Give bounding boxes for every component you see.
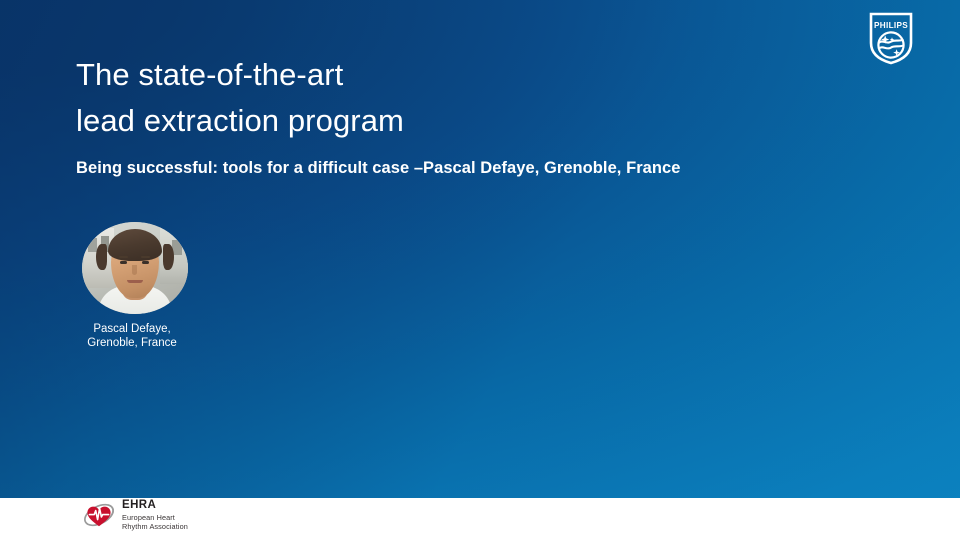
philips-wordmark: PHILIPS	[874, 21, 908, 30]
photo-hair-right	[163, 244, 174, 270]
ehra-subtitle-line-1: European Heart	[122, 514, 188, 521]
title-line-2: lead extraction program	[76, 98, 716, 144]
ehra-subtitle-line-2: Rhythm Association	[122, 523, 188, 530]
photo-eye-right	[142, 261, 149, 264]
photo-eye-left	[120, 261, 127, 264]
photo-mouth	[127, 280, 143, 283]
ehra-heart-icon	[82, 501, 116, 529]
speaker-caption: Pascal Defaye, Grenoble, France	[79, 322, 185, 350]
philips-shield-icon: PHILIPS	[868, 11, 914, 65]
photo-hair-left	[96, 244, 107, 270]
photo-nose	[132, 265, 137, 275]
slide-subtitle: Being successful: tools for a difficult …	[76, 159, 680, 178]
philips-emblem-icon	[878, 32, 903, 57]
title-line-1: The state-of-the-art	[76, 52, 716, 98]
avatar	[82, 222, 188, 314]
ehra-logo: EHRA European Heart Rhythm Association	[82, 500, 188, 530]
photo-eyebrow-right	[141, 256, 150, 258]
speaker-caption-line-2: Grenoble, France	[79, 336, 185, 350]
speaker-caption-line-1: Pascal Defaye,	[79, 322, 185, 336]
ehra-text-block: EHRA European Heart Rhythm Association	[122, 500, 188, 530]
photo-eyebrow-left	[119, 256, 128, 258]
page-title: The state-of-the-art lead extraction pro…	[76, 52, 716, 144]
photo-window-left-1	[88, 238, 97, 252]
philips-logo: PHILIPS	[868, 11, 914, 65]
ehra-acronym: EHRA	[122, 500, 188, 512]
speaker-block: Pascal Defaye, Grenoble, France	[82, 222, 188, 350]
presentation-slide: PHILIPS The state-of-the-art lead extrac…	[0, 0, 960, 540]
